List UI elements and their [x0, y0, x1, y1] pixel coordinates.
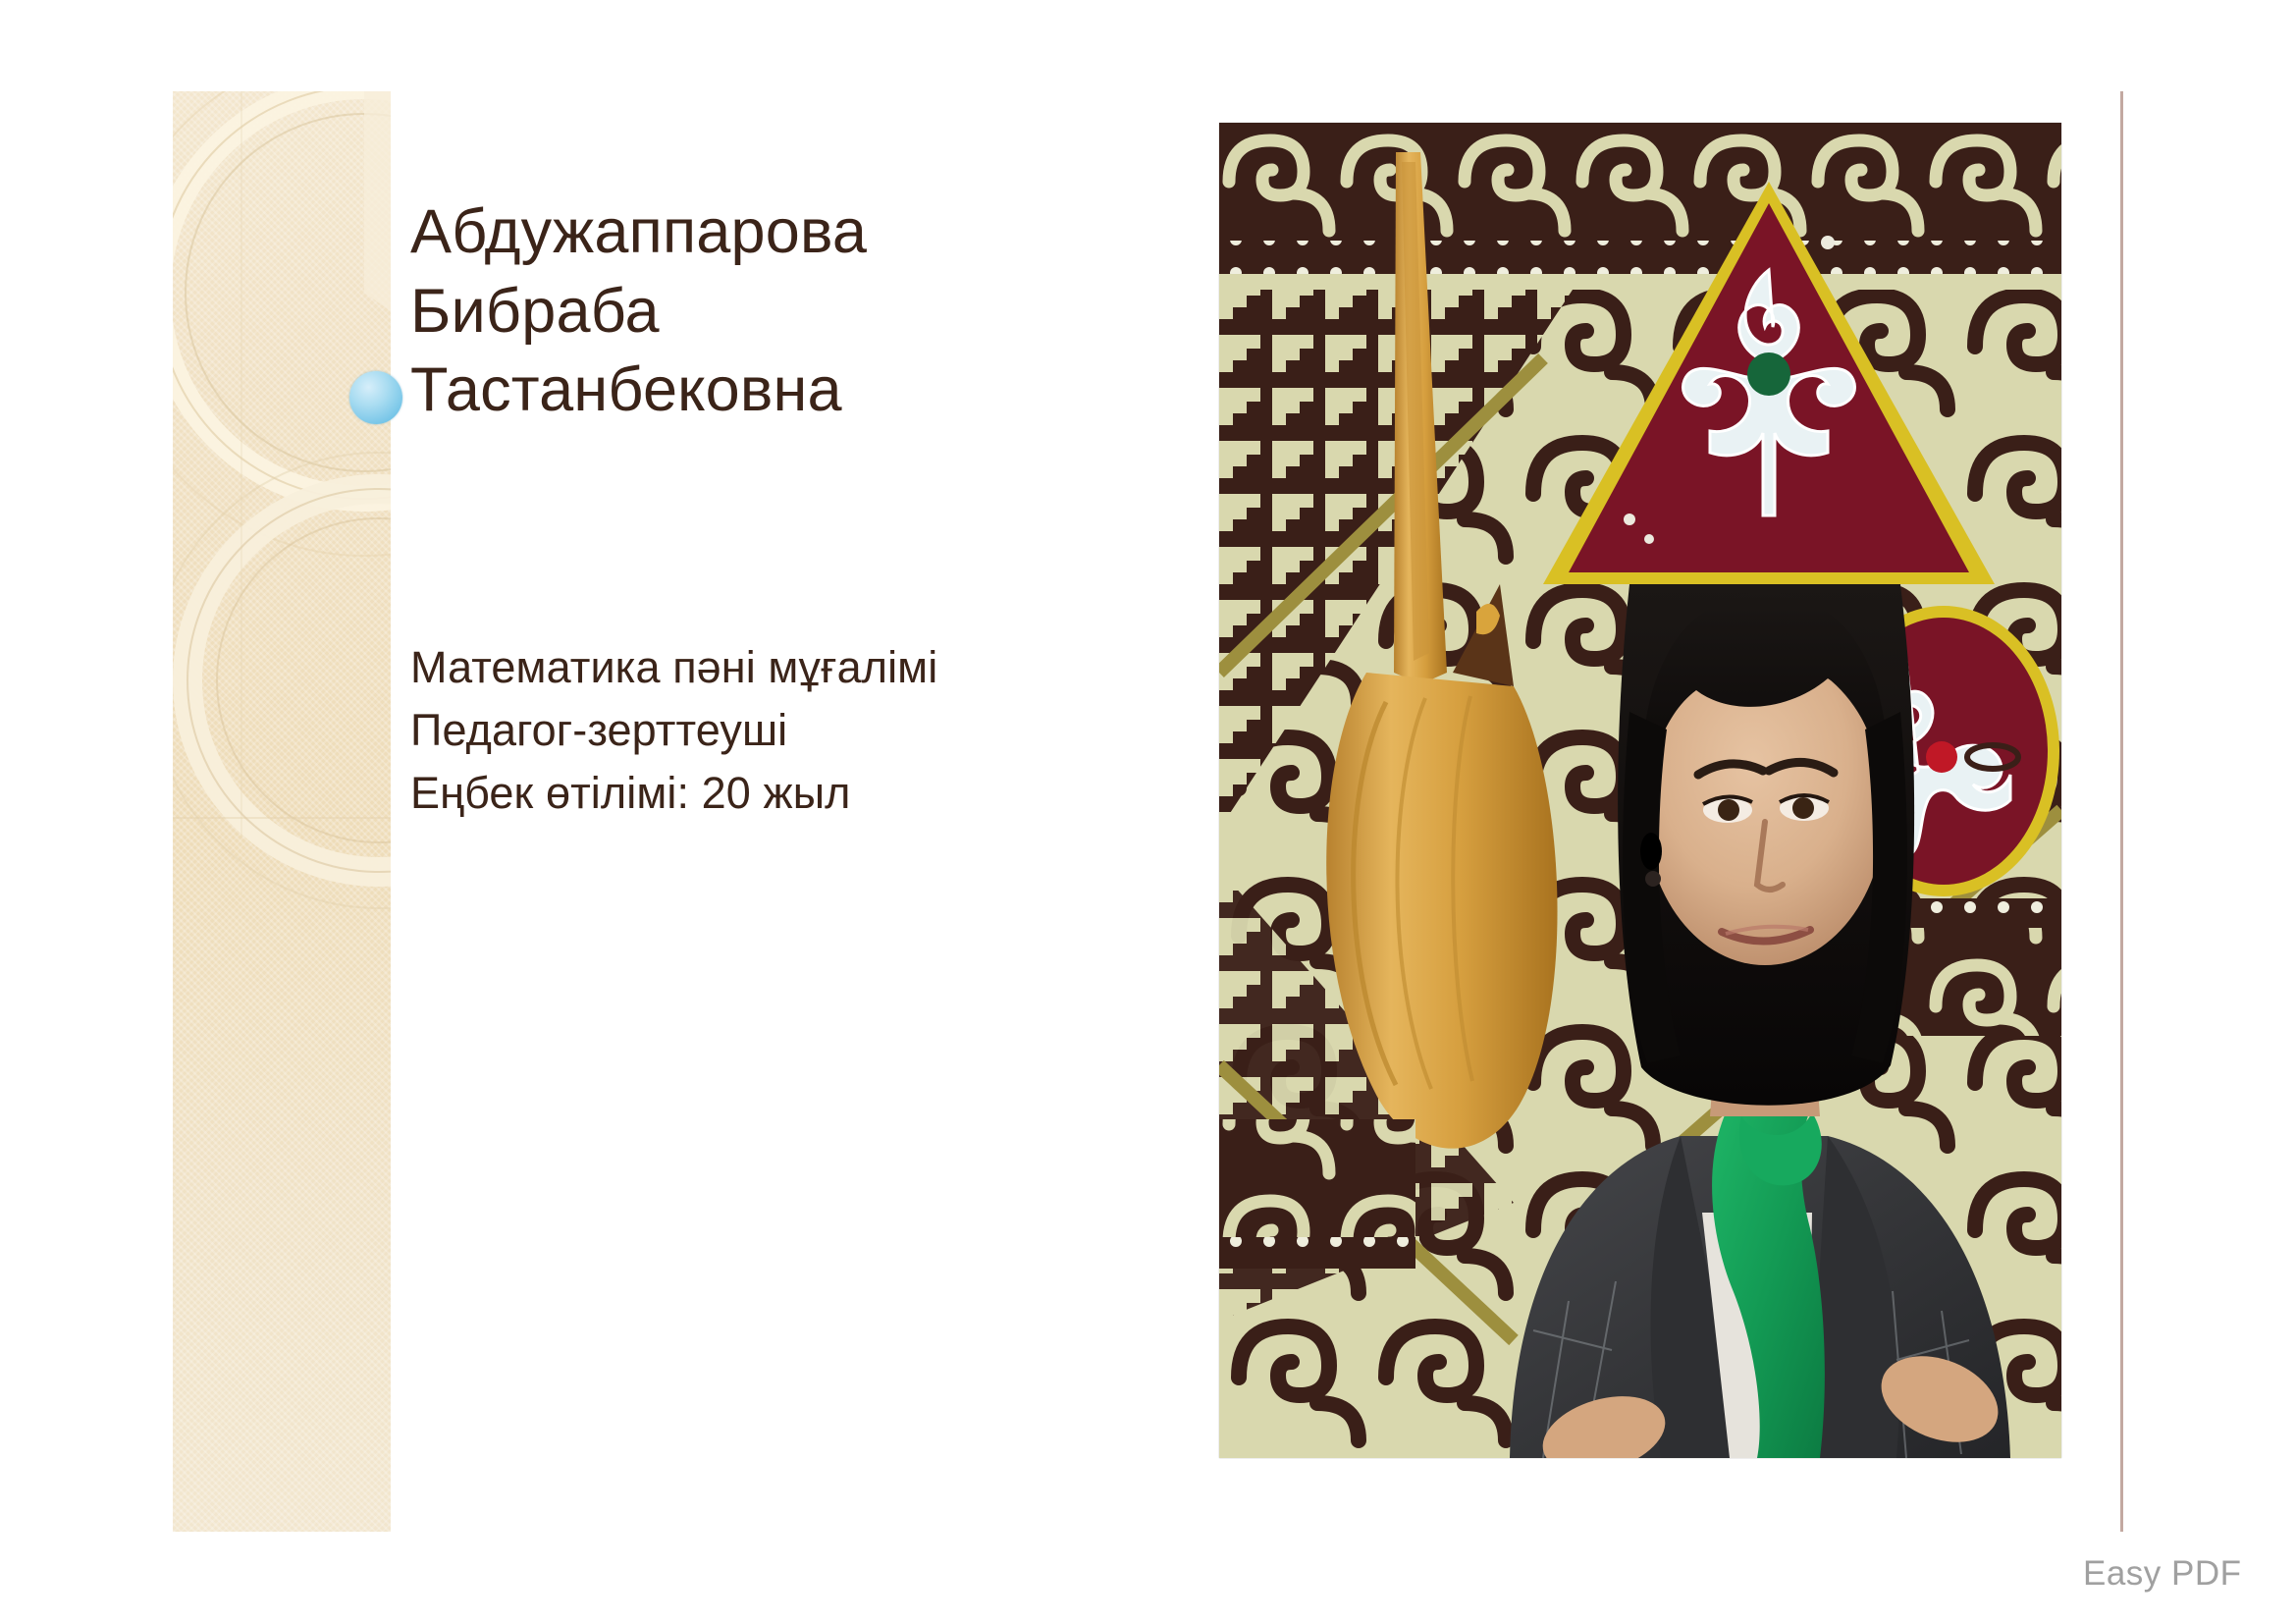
body-line-experience: Еңбек өтілімі: 20 жыл — [410, 762, 1215, 825]
vertical-divider-rule — [2120, 91, 2123, 1532]
accent-dot-icon — [349, 371, 402, 424]
body-line-subject: Математика пәні мұғалімі — [410, 636, 1215, 699]
decorative-side-band — [173, 91, 391, 1532]
page-title: Абдужаппарова Бибраба Тастанбековна — [410, 192, 1156, 430]
band-circles-decoration — [173, 91, 391, 1532]
subtitle-details: Математика пәні мұғалімі Педагог-зерттеу… — [410, 636, 1215, 825]
slide-canvas: Абдужаппарова Бибраба Тастанбековна Мате… — [0, 0, 2296, 1623]
title-line-1: Абдужаппарова — [410, 192, 1156, 272]
easy-pdf-watermark: Easy PDF — [2083, 1554, 2242, 1594]
portrait-photo-artwork — [1219, 123, 2061, 1458]
body-line-role: Педагог-зерттеуші — [410, 699, 1215, 762]
portrait-photo — [1219, 123, 2061, 1458]
title-line-3: Тастанбековна — [410, 351, 1156, 430]
title-line-2: Бибраба — [410, 272, 1156, 352]
